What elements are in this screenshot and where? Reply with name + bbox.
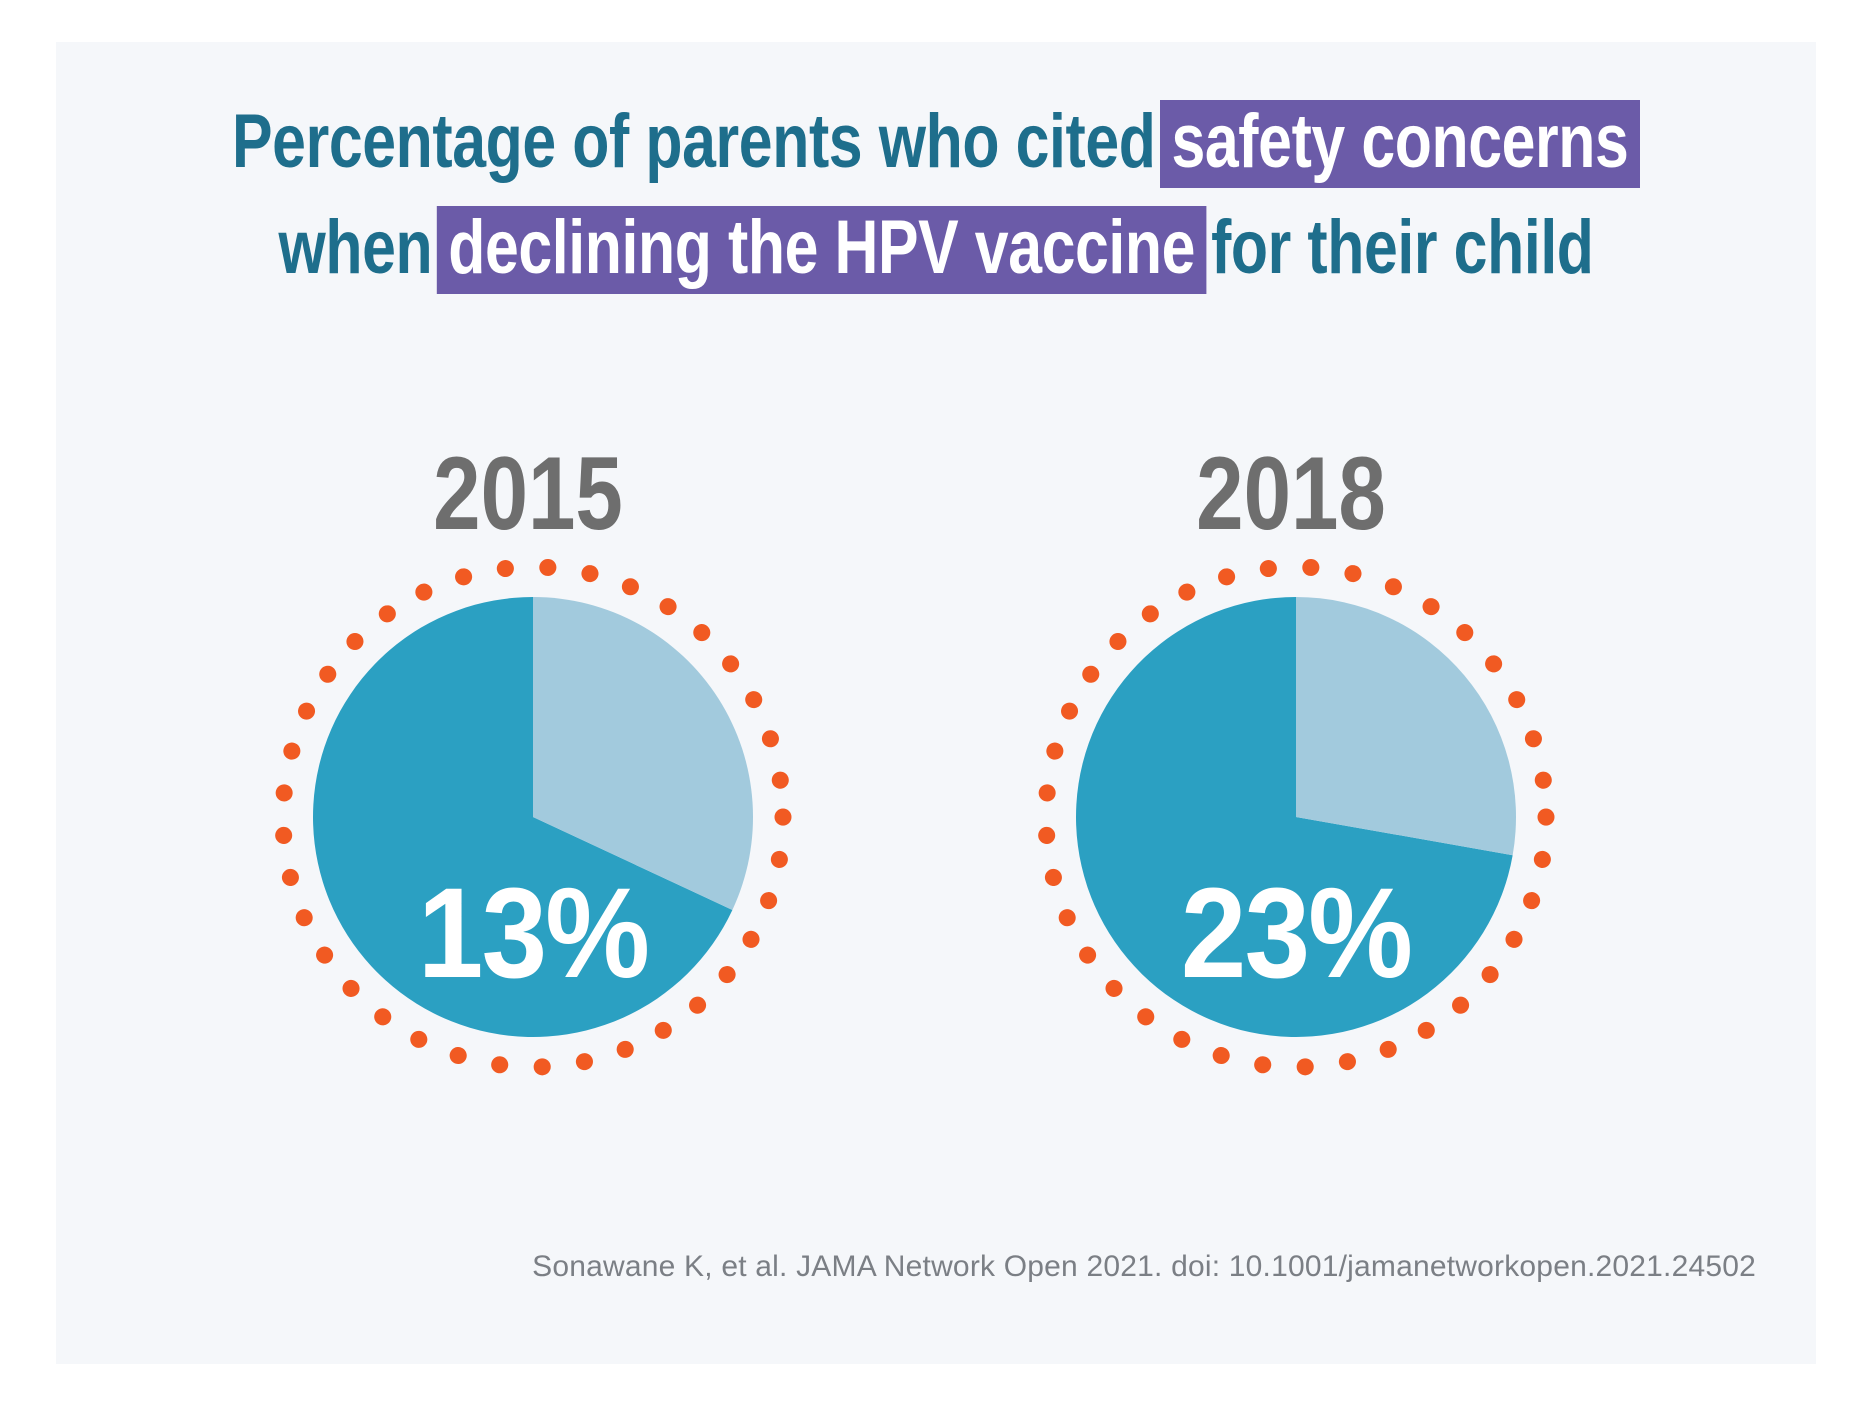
year-label-2018: 2018: [979, 442, 1602, 546]
chart-panel-2015: 2015 13%: [148, 442, 908, 1182]
pie-value-label-2015: 13%: [289, 870, 777, 998]
year-label-2015: 2015: [216, 442, 839, 546]
title-line-1-text: Percentage of parents who cited: [232, 104, 1155, 180]
title-highlight-declining-hpv-vaccine: declining the HPV vaccine: [437, 206, 1206, 294]
pie-slice-safety-concerns-2018: [1296, 597, 1516, 855]
source-citation: Sonawane K, et al. JAMA Network Open 202…: [56, 1250, 1756, 1284]
chart-panel-2018: 2018 23%: [911, 442, 1671, 1182]
pie-chart-2015: 13%: [268, 552, 798, 1082]
infographic-canvas: Percentage of parents who citedsafety co…: [56, 42, 1816, 1364]
pie-chart-2018: 23%: [1031, 552, 1561, 1082]
pie-value-label-2018: 23%: [1052, 870, 1540, 998]
title-highlight-safety-concerns: safety concerns: [1160, 100, 1639, 188]
title-line-1: Percentage of parents who citedsafety co…: [232, 100, 1640, 188]
title-line-2-suffix: for their child: [1211, 210, 1593, 286]
title-line-2: whendeclining the HPV vaccinefor their c…: [232, 206, 1640, 294]
page-title: Percentage of parents who citedsafety co…: [56, 100, 1816, 294]
infographic-page: Percentage of parents who citedsafety co…: [0, 0, 1872, 1405]
title-line-2-prefix: when: [278, 210, 432, 286]
